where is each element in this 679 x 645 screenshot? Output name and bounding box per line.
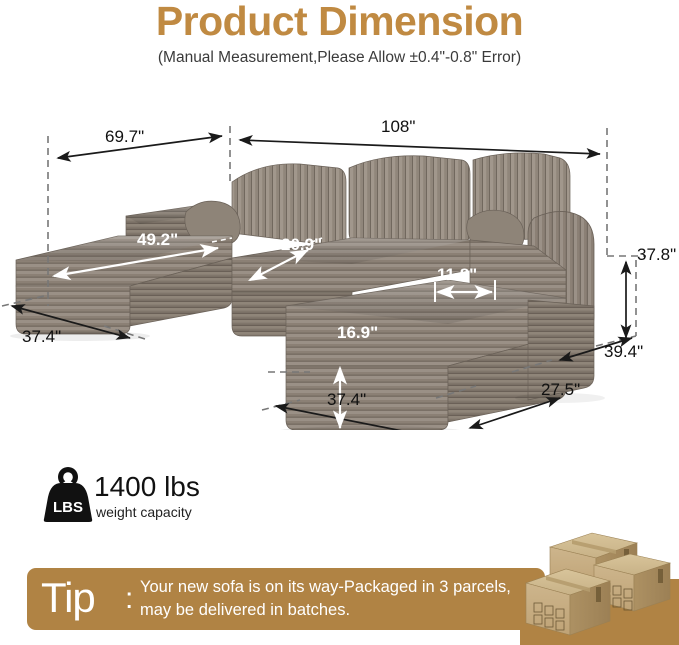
label-16-9: 16.9" xyxy=(337,323,378,342)
dimension-line-108 xyxy=(240,140,600,154)
weight-icon-label: LBS xyxy=(53,499,83,516)
sofa-illustration xyxy=(10,153,605,430)
label-49-2: 49.2" xyxy=(137,230,178,249)
label-37-8: 37.8" xyxy=(637,245,676,264)
page-subtitle: (Manual Measurement,Please Allow ±0.4"-0… xyxy=(0,48,679,68)
tip-colon: : xyxy=(125,567,133,631)
tip-text: Your new sofa is on its way-Packaged in … xyxy=(140,576,536,622)
parcel-box-front xyxy=(526,569,610,635)
weight-value: 1400 lbs xyxy=(94,471,200,503)
weight-capacity-block: LBS 1400 lbs weight capacity xyxy=(40,462,300,532)
label-11-8: 11.8" xyxy=(437,265,477,284)
label-37-4-left: 37.4" xyxy=(22,327,61,346)
dimension-diagram: 69.7" 108" 37.8" 37.4" 37.4" 27.5" 39.4"… xyxy=(0,110,679,430)
label-69-7: 69.7" xyxy=(105,127,144,146)
weight-icon: LBS xyxy=(40,464,96,524)
label-108: 108" xyxy=(381,117,415,136)
label-27-5: 27.5" xyxy=(541,380,580,399)
header: Product Dimension (Manual Measurement,Pl… xyxy=(0,0,679,80)
tip-label: Tip xyxy=(41,567,95,629)
weight-caption: weight capacity xyxy=(96,504,192,521)
label-37-4-bottom: 37.4" xyxy=(327,390,366,409)
tip-banner: Tip : Your new sofa is on its way-Packag… xyxy=(27,568,545,630)
parcel-boxes-illustration xyxy=(520,527,679,645)
page-title: Product Dimension xyxy=(0,0,679,44)
label-39-4: 39.4" xyxy=(604,342,643,361)
label-20-9: 20.9" xyxy=(281,235,322,254)
